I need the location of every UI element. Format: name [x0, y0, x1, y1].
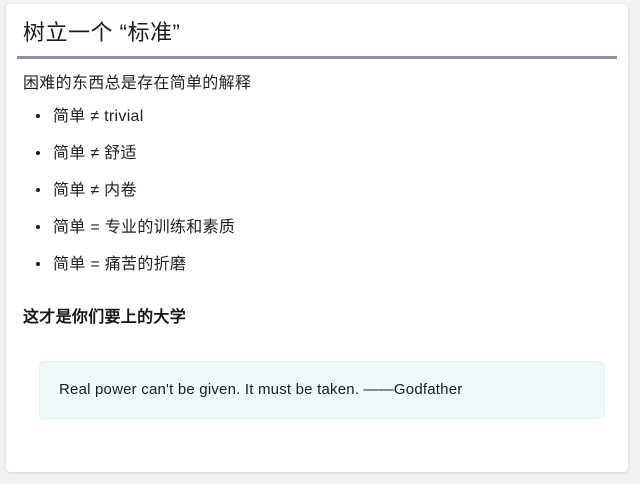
quote-text: Real power can't be given. It must be ta…: [59, 379, 585, 400]
list-item: 简单 ≠ trivial: [23, 105, 615, 128]
bullet-dot-icon: [36, 188, 40, 192]
bullet-dot-icon: [36, 225, 40, 229]
intro-text: 困难的东西总是存在简单的解释: [23, 59, 615, 96]
emphasis-text: 这才是你们要上的大学: [23, 277, 615, 330]
bullet-dot-icon: [36, 151, 40, 155]
slide-body: 困难的东西总是存在简单的解释 简单 ≠ trivial 简单 ≠ 舒适 简单 ≠…: [17, 59, 617, 330]
bullet-dot-icon: [36, 262, 40, 266]
slide-content: 树立一个 “标准” 困难的东西总是存在简单的解释 简单 ≠ trivial 简单…: [6, 4, 628, 472]
page-title: 树立一个 “标准”: [17, 4, 617, 59]
bullet-dot-icon: [36, 114, 40, 118]
quote-callout-box: Real power can't be given. It must be ta…: [39, 361, 605, 419]
list-item-label: 简单 ≠ 舒适: [53, 145, 137, 162]
list-item-label: 简单 = 专业的训练和素质: [53, 219, 235, 236]
list-item: 简单 = 专业的训练和素质: [23, 216, 615, 239]
list-item: 简单 ≠ 内卷: [23, 179, 615, 202]
list-item: 简单 = 痛苦的折磨: [23, 253, 615, 276]
list-item-label: 简单 ≠ 内卷: [53, 182, 137, 199]
slide-card: 树立一个 “标准” 困难的东西总是存在简单的解释 简单 ≠ trivial 简单…: [6, 4, 628, 472]
list-item-label: 简单 ≠ trivial: [53, 108, 144, 125]
bullet-list: 简单 ≠ trivial 简单 ≠ 舒适 简单 ≠ 内卷 简单 = 专业的训练和…: [23, 105, 615, 277]
list-item: 简单 ≠ 舒适: [23, 142, 615, 165]
list-item-label: 简单 = 痛苦的折磨: [53, 256, 186, 273]
